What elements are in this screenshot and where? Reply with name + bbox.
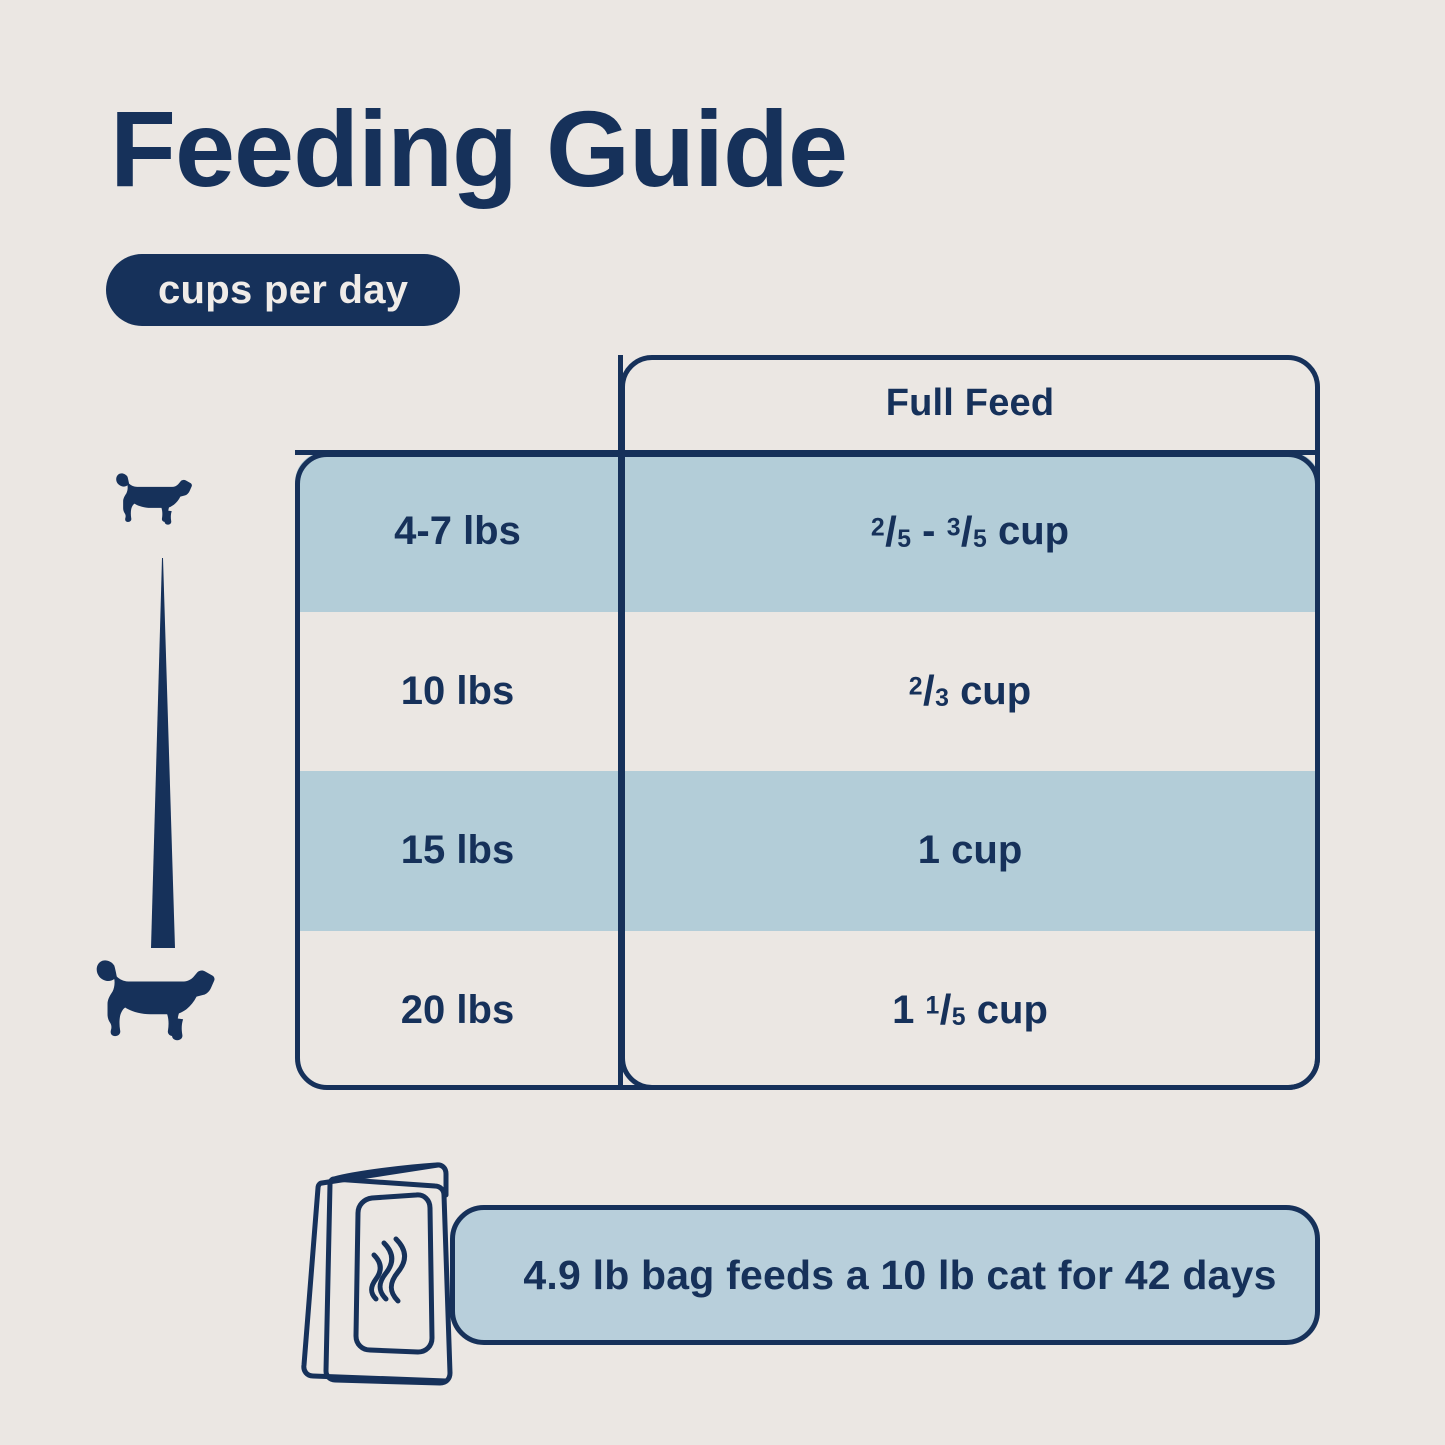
column-header-full-feed: Full Feed [620, 355, 1320, 452]
table-row: 10 lbs 2/3cup [295, 612, 1320, 772]
unit-label: cup [960, 669, 1031, 714]
cell-amount: 2/3cup [620, 667, 1320, 715]
cell-amount: 2/5-3/5cup [620, 508, 1320, 556]
badge-label: cups per day [158, 268, 408, 313]
column-header-label: Full Feed [886, 382, 1055, 425]
cell-weight: 20 lbs [295, 988, 620, 1033]
cat-large-icon [84, 950, 252, 1060]
column-divider-line [618, 355, 623, 1090]
fraction-value: 1/5 [926, 986, 966, 1034]
cell-weight: 15 lbs [295, 828, 620, 873]
cell-weight: 4-7 lbs [295, 509, 620, 554]
table-rows: 4-7 lbs 2/5-3/5cup 10 lbs 2/3cup 15 lbs … [295, 452, 1320, 1090]
unit-label: cup [951, 828, 1022, 873]
fraction-value-2: 3/5 [947, 508, 987, 556]
fraction-value: 2/5 [871, 508, 911, 556]
bag-duration-banner: 4.9 lb bag feeds a 10 lb cat for 42 days [450, 1205, 1320, 1345]
table-row: 4-7 lbs 2/5-3/5cup [295, 452, 1320, 612]
table-row: 20 lbs 11/5cup [295, 931, 1320, 1091]
fraction-value: 2/3 [909, 667, 949, 715]
page-title: Feeding Guide [110, 92, 847, 205]
table-row: 15 lbs 1cup [295, 771, 1320, 931]
range-dash: - [922, 509, 935, 554]
food-bag-icon [296, 1143, 496, 1388]
cups-per-day-badge: cups per day [106, 254, 460, 326]
cell-amount: 11/5cup [620, 986, 1320, 1034]
cell-amount: 1cup [620, 828, 1320, 873]
feeding-guide-canvas: Feeding Guide cups per day [0, 0, 1445, 1445]
size-scale-wedge-icon [142, 558, 184, 948]
feeding-table: 4-7 lbs 2/5-3/5cup 10 lbs 2/3cup 15 lbs … [295, 355, 1320, 1090]
whole-number: 1 [892, 988, 914, 1033]
unit-label: cup [977, 988, 1048, 1033]
cat-size-scale [80, 460, 270, 1100]
unit-label: cup [998, 509, 1069, 554]
whole-number: 1 [918, 828, 940, 873]
flame-swirl-logo-icon [372, 1239, 405, 1301]
cat-small-icon [108, 468, 216, 536]
cell-weight: 10 lbs [295, 669, 620, 714]
banner-label: 4.9 lb bag feeds a 10 lb cat for 42 days [493, 1252, 1276, 1299]
